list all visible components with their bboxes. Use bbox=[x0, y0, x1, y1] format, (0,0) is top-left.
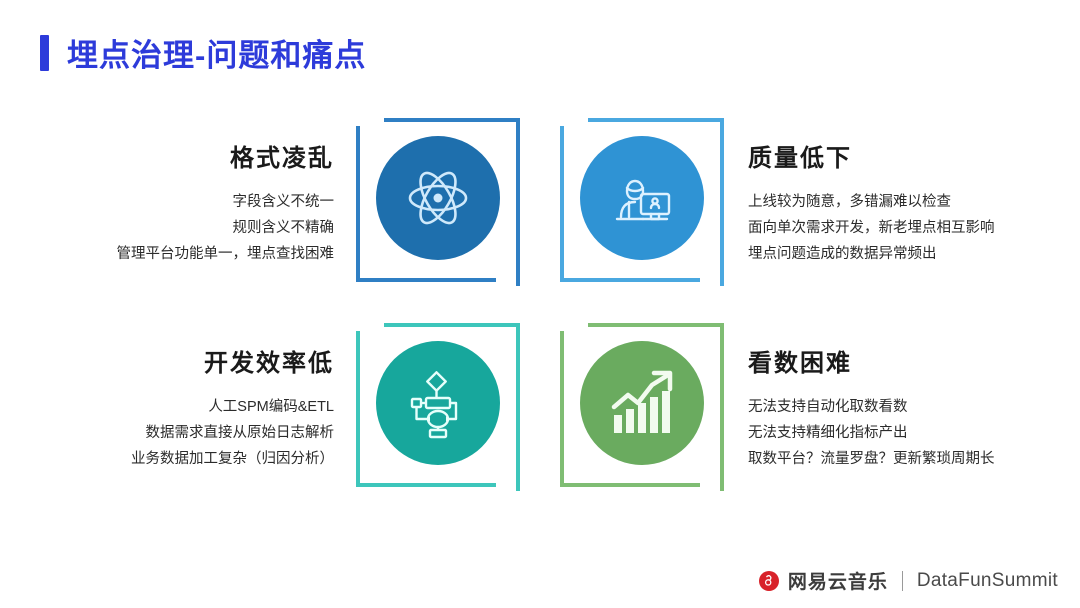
title-accent-bar bbox=[40, 35, 49, 71]
panel-format-messy: 格式凌乱 字段含义不统一 规则含义不精确 管理平台功能单一，埋点查找困难 bbox=[0, 112, 520, 317]
panel-heading: 质量低下 bbox=[748, 138, 995, 173]
footer-datafun-name: DataFunSummit bbox=[917, 570, 1058, 592]
panel-line: 管理平台功能单一，埋点查找困难 bbox=[117, 241, 335, 267]
panel-text: 看数困难 无法支持自动化取数看数 无法支持精细化指标产出 取数平台？流量罗盘？更… bbox=[724, 317, 995, 472]
footer-divider bbox=[902, 571, 903, 591]
panel-text: 质量低下 上线较为随意，多错漏难以检查 面向单次需求开发，新老埋点相互影响 埋点… bbox=[724, 112, 995, 267]
panel-low-dev-efficiency: 开发效率低 人工SPM编码&ETL 数据需求直接从原始日志解析 业务数据加工复杂… bbox=[0, 317, 520, 522]
panel-line: 无法支持自动化取数看数 bbox=[748, 394, 995, 420]
panel-text: 格式凌乱 字段含义不统一 规则含义不精确 管理平台功能单一，埋点查找困难 bbox=[117, 112, 357, 267]
panel-low-quality: 质量低下 上线较为随意，多错漏难以检查 面向单次需求开发，新老埋点相互影响 埋点… bbox=[560, 112, 1080, 317]
panel-heading: 格式凌乱 bbox=[117, 138, 335, 173]
panel-line: 无法支持精细化指标产出 bbox=[748, 420, 995, 446]
panel-grid: 格式凌乱 字段含义不统一 规则含义不精确 管理平台功能单一，埋点查找困难 bbox=[0, 112, 1080, 522]
panel-line: 数据需求直接从原始日志解析 bbox=[131, 420, 334, 446]
panel-line: 面向单次需求开发，新老埋点相互影响 bbox=[748, 215, 995, 241]
page-title: 埋点治理-问题和痛点 bbox=[67, 30, 366, 75]
icon-frame bbox=[560, 118, 724, 282]
icon-frame bbox=[356, 118, 520, 282]
footer-netease-name: 网易云音乐 bbox=[788, 567, 888, 594]
netease-music-logo-icon bbox=[759, 571, 779, 591]
panel-heading: 开发效率低 bbox=[131, 343, 334, 378]
person-computer-icon bbox=[580, 136, 704, 260]
panel-line: 上线较为随意，多错漏难以检查 bbox=[748, 189, 995, 215]
bar-chart-trend-icon bbox=[580, 341, 704, 465]
panel-line: 规则含义不精确 bbox=[117, 215, 335, 241]
panel-line: 取数平台？流量罗盘？更新繁琐周期长 bbox=[748, 446, 995, 472]
icon-frame bbox=[356, 323, 520, 487]
panel-line: 埋点问题造成的数据异常频出 bbox=[748, 241, 995, 267]
panel-text: 开发效率低 人工SPM编码&ETL 数据需求直接从原始日志解析 业务数据加工复杂… bbox=[131, 317, 356, 472]
panel-hard-to-view-data: 看数困难 无法支持自动化取数看数 无法支持精细化指标产出 取数平台？流量罗盘？更… bbox=[560, 317, 1080, 522]
panel-line: 字段含义不统一 bbox=[117, 189, 335, 215]
panel-line: 业务数据加工复杂（归因分析） bbox=[131, 446, 334, 472]
slide-title-block: 埋点治理-问题和痛点 bbox=[40, 30, 366, 75]
icon-frame bbox=[560, 323, 724, 487]
panel-heading: 看数困难 bbox=[748, 343, 995, 378]
flowchart-icon bbox=[376, 341, 500, 465]
panel-line: 人工SPM编码&ETL bbox=[131, 394, 334, 420]
footer-brand: 网易云音乐 DataFunSummit bbox=[759, 567, 1058, 594]
atom-icon bbox=[376, 136, 500, 260]
